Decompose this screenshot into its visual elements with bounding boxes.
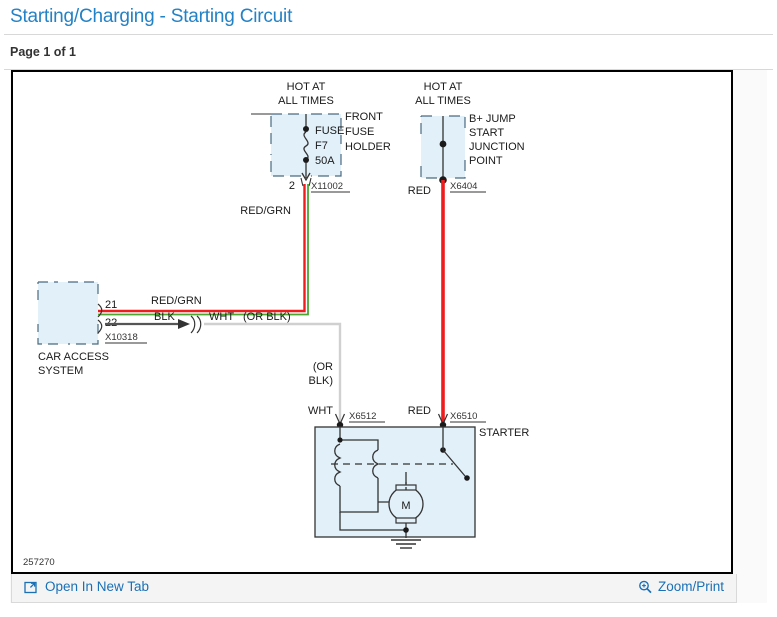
wire-red-grn-label-mid: RED/GRN (151, 295, 202, 307)
fuse-text-2: F7 (315, 140, 328, 152)
page-count: Page 1 of 1 (0, 35, 777, 69)
car-access-connector-id: X10318 (105, 332, 138, 343)
jump-hot-line1: HOT AT (424, 81, 463, 93)
wire-or-blk-label: (OR BLK) (243, 311, 291, 323)
car-access-name-1: CAR ACCESS (38, 351, 109, 363)
wire-blk-label: BLK (154, 311, 175, 323)
fuse-holder-label-3: HOLDER (345, 141, 391, 153)
wire-wht-label: WHT (209, 311, 234, 323)
fuse-connector-id: X11002 (311, 181, 343, 192)
fuse-holder-label-2: FUSE (345, 126, 374, 138)
diagram-viewer: HOT AT ALL TIMES FRONT FUSE HOLDER FUSE … (10, 70, 767, 603)
fuse-text-3: 50A (315, 155, 335, 167)
fuse-pin-number: 2 (289, 180, 295, 192)
starter-red-connector-id: X6510 (450, 411, 477, 422)
wire-vert-blk-label: BLK) (309, 375, 333, 387)
zoom-print-button[interactable]: Zoom/Print (638, 579, 724, 594)
car-access-pin-21: 21 (105, 299, 117, 311)
jump-start-junction-point (421, 116, 465, 184)
fuse-hot-line2: ALL TIMES (278, 95, 334, 107)
jump-label-2: START (469, 127, 504, 139)
open-in-new-tab-label: Open In New Tab (45, 579, 149, 594)
fuse-holder-label-1: FRONT (345, 111, 383, 123)
jump-label-3: JUNCTION (469, 141, 525, 153)
jump-label-4: POINT (469, 155, 503, 167)
wire-red-main (439, 180, 448, 424)
starter-component (315, 427, 475, 548)
wire-vert-wht-label: WHT (308, 405, 333, 417)
fuse-hot-line1: HOT AT (287, 81, 326, 93)
page-title-text: Starting/Charging - Starting Circuit (0, 0, 777, 34)
jump-hot-line2: ALL TIMES (415, 95, 471, 107)
car-access-system (38, 282, 102, 344)
diagram-toolbar: Open In New Tab Zoom/Print (11, 574, 737, 603)
fuse-text-1: FUSE (315, 125, 344, 137)
wire-red-grn-label-top: RED/GRN (240, 205, 291, 217)
page-title: Starting/Charging - Starting Circuit (0, 0, 777, 34)
car-access-name-2: SYSTEM (38, 365, 83, 377)
wire-vert-or-label: (OR (313, 361, 333, 373)
wiring-diagram: HOT AT ALL TIMES FRONT FUSE HOLDER FUSE … (13, 72, 731, 572)
wire-red-label-bottom: RED (408, 405, 431, 417)
wire-red-label-top: RED (408, 185, 431, 197)
magnifier-icon (638, 580, 652, 594)
external-link-icon (24, 580, 38, 594)
jump-connector-id: X6404 (450, 181, 477, 192)
open-in-new-tab-button[interactable]: Open In New Tab (24, 579, 149, 594)
motor-symbol: M (401, 500, 410, 512)
zoom-print-label: Zoom/Print (658, 579, 724, 594)
starter-label: STARTER (479, 427, 529, 439)
wire-blk (105, 316, 201, 333)
figure-number: 257270 (23, 557, 55, 568)
jump-label-1: B+ JUMP (469, 113, 516, 125)
starter-wht-connector-id: X6512 (349, 411, 376, 422)
diagram-frame: HOT AT ALL TIMES FRONT FUSE HOLDER FUSE … (11, 70, 733, 574)
